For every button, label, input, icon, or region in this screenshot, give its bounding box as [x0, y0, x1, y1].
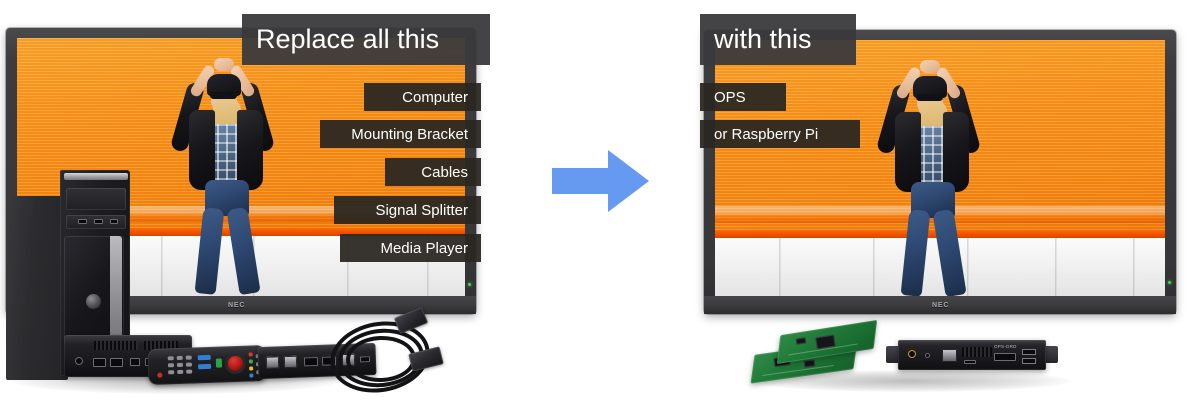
left-callout-label: Media Player — [380, 240, 468, 257]
raspberry-pi-boards — [752, 326, 878, 380]
leather-jacket-right — [237, 110, 263, 190]
mini-pc-power-jack[interactable] — [75, 357, 83, 365]
right-callout-label: OPS — [714, 89, 746, 106]
mini-pc-vent — [94, 341, 138, 350]
leather-jacket-left — [895, 112, 921, 192]
left-leg-jeans — [901, 209, 931, 296]
mini-pc-usb-port[interactable] — [93, 358, 106, 367]
left-monitor-power-led — [468, 283, 471, 286]
splitter-rj45-port[interactable] — [284, 356, 297, 368]
left-callout-item: Computer — [364, 83, 481, 111]
right-leg-jeans — [226, 207, 260, 295]
left-callout-item: Mounting Bracket — [320, 120, 481, 148]
wall-panel-seam — [1055, 238, 1057, 296]
remote-keypad-button[interactable] — [186, 370, 192, 374]
right-callout-item: or Raspberry Pi — [700, 120, 860, 148]
right-monitor: NEC — [704, 30, 1176, 314]
splitter-rj45-port[interactable] — [266, 356, 279, 368]
remote-keypad-button[interactable] — [186, 356, 192, 360]
sunglasses — [916, 94, 943, 101]
remote-color-key-green[interactable] — [249, 359, 253, 363]
right-title-callout: with this — [700, 14, 856, 65]
remote-green-button[interactable] — [216, 358, 222, 367]
pc-tower-side-panel — [6, 196, 68, 380]
ops-usb-port[interactable] — [1022, 349, 1036, 355]
pc-front-usb-port[interactable] — [94, 219, 103, 224]
remote-keypad-button[interactable] — [186, 363, 192, 367]
remote-keypad-button[interactable] — [168, 363, 174, 367]
left-callout-item: Signal Splitter — [334, 196, 481, 224]
right-callout-item: OPS — [700, 83, 786, 111]
pc-tower-top-trim — [64, 173, 128, 180]
ops-vent-slots — [962, 347, 992, 357]
remote-keypad-button[interactable] — [168, 356, 174, 360]
woman-figure — [157, 58, 307, 294]
right-title-text: with this — [714, 24, 812, 55]
mini-pc-usb-port[interactable] — [110, 358, 123, 367]
ops-displayport[interactable] — [994, 353, 1016, 361]
remote-keypad-button[interactable] — [177, 356, 183, 360]
remote-power-button[interactable] — [228, 356, 244, 372]
ops-usb-port[interactable] — [1022, 358, 1036, 364]
ops-module: OPS-DRD — [886, 337, 1058, 375]
mini-pc-displayport[interactable] — [130, 358, 140, 366]
remote-control — [147, 345, 266, 385]
right-arrow-icon — [552, 148, 650, 214]
ops-reset-button[interactable] — [925, 353, 930, 358]
leather-jacket-right — [943, 112, 969, 192]
ops-printed-label: OPS-DRD — [994, 344, 1017, 349]
right-screen-scene — [715, 40, 1165, 296]
left-callout-label: Cables — [421, 164, 468, 181]
ops-module-body: OPS-DRD — [898, 340, 1046, 370]
clasped-hands — [214, 58, 234, 71]
pc-tower-power-button[interactable] — [86, 294, 101, 309]
ops-antenna-connector[interactable] — [908, 350, 916, 358]
pc-front-usb-port[interactable] — [78, 219, 87, 224]
remote-color-key-blue[interactable] — [249, 373, 253, 377]
wall-panel-seam — [1133, 238, 1135, 296]
right-monitor-screen — [715, 40, 1165, 296]
remote-color-key-yellow[interactable] — [249, 366, 253, 370]
left-callout-label: Mounting Bracket — [351, 126, 468, 143]
left-title-callout: Replace all this — [242, 14, 490, 65]
woman-figure — [863, 60, 1013, 296]
pc-tower-optical-drive-bay — [66, 188, 126, 210]
clasped-hands — [920, 60, 940, 73]
remote-keypad-button[interactable] — [177, 363, 183, 367]
screenshot-stage: NEC — [0, 0, 1200, 400]
right-arrow — [552, 148, 650, 214]
video-cable-coil — [324, 312, 452, 390]
pc-front-audio-jack[interactable] — [110, 219, 118, 224]
remote-button[interactable] — [157, 373, 162, 378]
left-title-text: Replace all this — [256, 24, 439, 55]
sunglasses — [210, 92, 237, 99]
remote-color-key-red[interactable] — [249, 352, 253, 356]
left-callout-item: Media Player — [340, 234, 481, 262]
splitter-io-port[interactable] — [304, 357, 318, 366]
left-leg-jeans — [195, 207, 225, 295]
left-callout-item: Cables — [385, 158, 481, 186]
right-monitor-power-led — [1168, 281, 1171, 284]
right-leg-jeans — [932, 209, 966, 296]
remote-keypad-button[interactable] — [168, 370, 174, 374]
wall-panel-seam — [779, 238, 781, 296]
remote-blue-button[interactable] — [198, 355, 211, 360]
remote-blue-button[interactable] — [198, 364, 211, 369]
remote-keypad-button[interactable] — [177, 370, 183, 374]
right-monitor-brand-logo: NEC — [704, 296, 1176, 314]
left-callout-label: Signal Splitter — [375, 202, 468, 219]
right-callout-label: or Raspberry Pi — [714, 126, 818, 143]
ops-rj45-lan-port[interactable] — [942, 349, 957, 362]
left-callout-label: Computer — [402, 89, 468, 106]
leather-jacket-left — [189, 110, 215, 190]
ops-mounting-ear — [1044, 346, 1058, 363]
ops-micro-sd-slot[interactable] — [964, 360, 976, 364]
